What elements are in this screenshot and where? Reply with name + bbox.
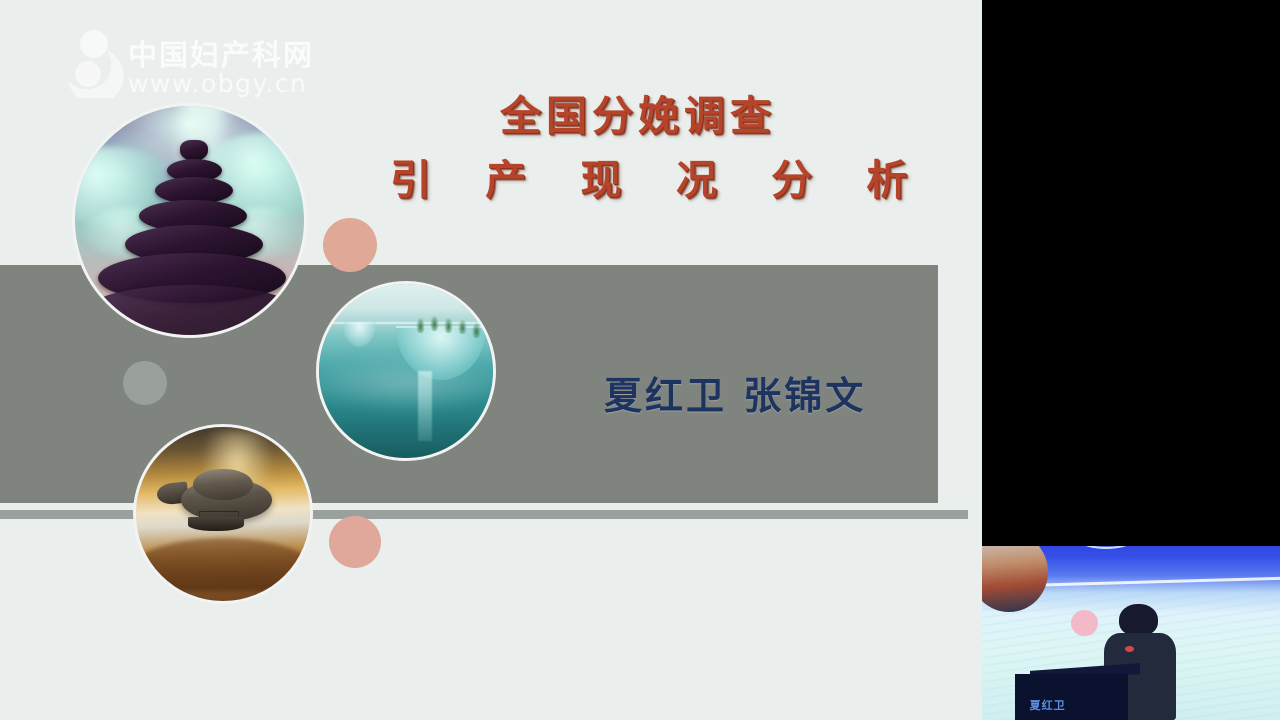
speaker-camera-feed[interactable]: 夏红卫 <box>982 530 1280 720</box>
watermark-site-name: 中国妇产科网 <box>128 32 314 74</box>
mother-child-logo-icon <box>62 28 126 98</box>
slide-authors: 夏红卫 张锦文 <box>604 365 866 420</box>
title-line-2: 引 产 现 况 分 析 <box>378 160 898 202</box>
underwater-structure-photo <box>316 281 496 461</box>
presentation-slide: 中国妇产科网 www.obgy.cn 全国分娩调查 引 产 现 况 分 析 夏红… <box>0 0 982 720</box>
speaker-badge <box>1125 646 1134 652</box>
slide-title: 全国分娩调查 引 产 现 况 分 析 <box>378 96 898 202</box>
podium-nameplate: 夏红卫 <box>1030 697 1066 713</box>
video-letterbox-bar <box>982 530 1280 546</box>
watermark-site-url: www.obgy.cn <box>128 69 307 98</box>
speaker-head <box>1119 604 1158 636</box>
peach-circle-upper <box>323 218 377 272</box>
screen-capture: 中国妇产科网 www.obgy.cn 全国分娩调查 引 产 现 况 分 析 夏红… <box>0 0 1280 720</box>
stone-cairn-photo <box>72 103 307 338</box>
title-line-1: 全国分娩调查 <box>378 96 898 138</box>
watermark-logo: 中国妇产科网 www.obgy.cn <box>62 26 312 106</box>
peach-circle-lower <box>329 516 381 568</box>
airship-photo <box>133 424 313 604</box>
gray-circle <box>123 361 167 405</box>
